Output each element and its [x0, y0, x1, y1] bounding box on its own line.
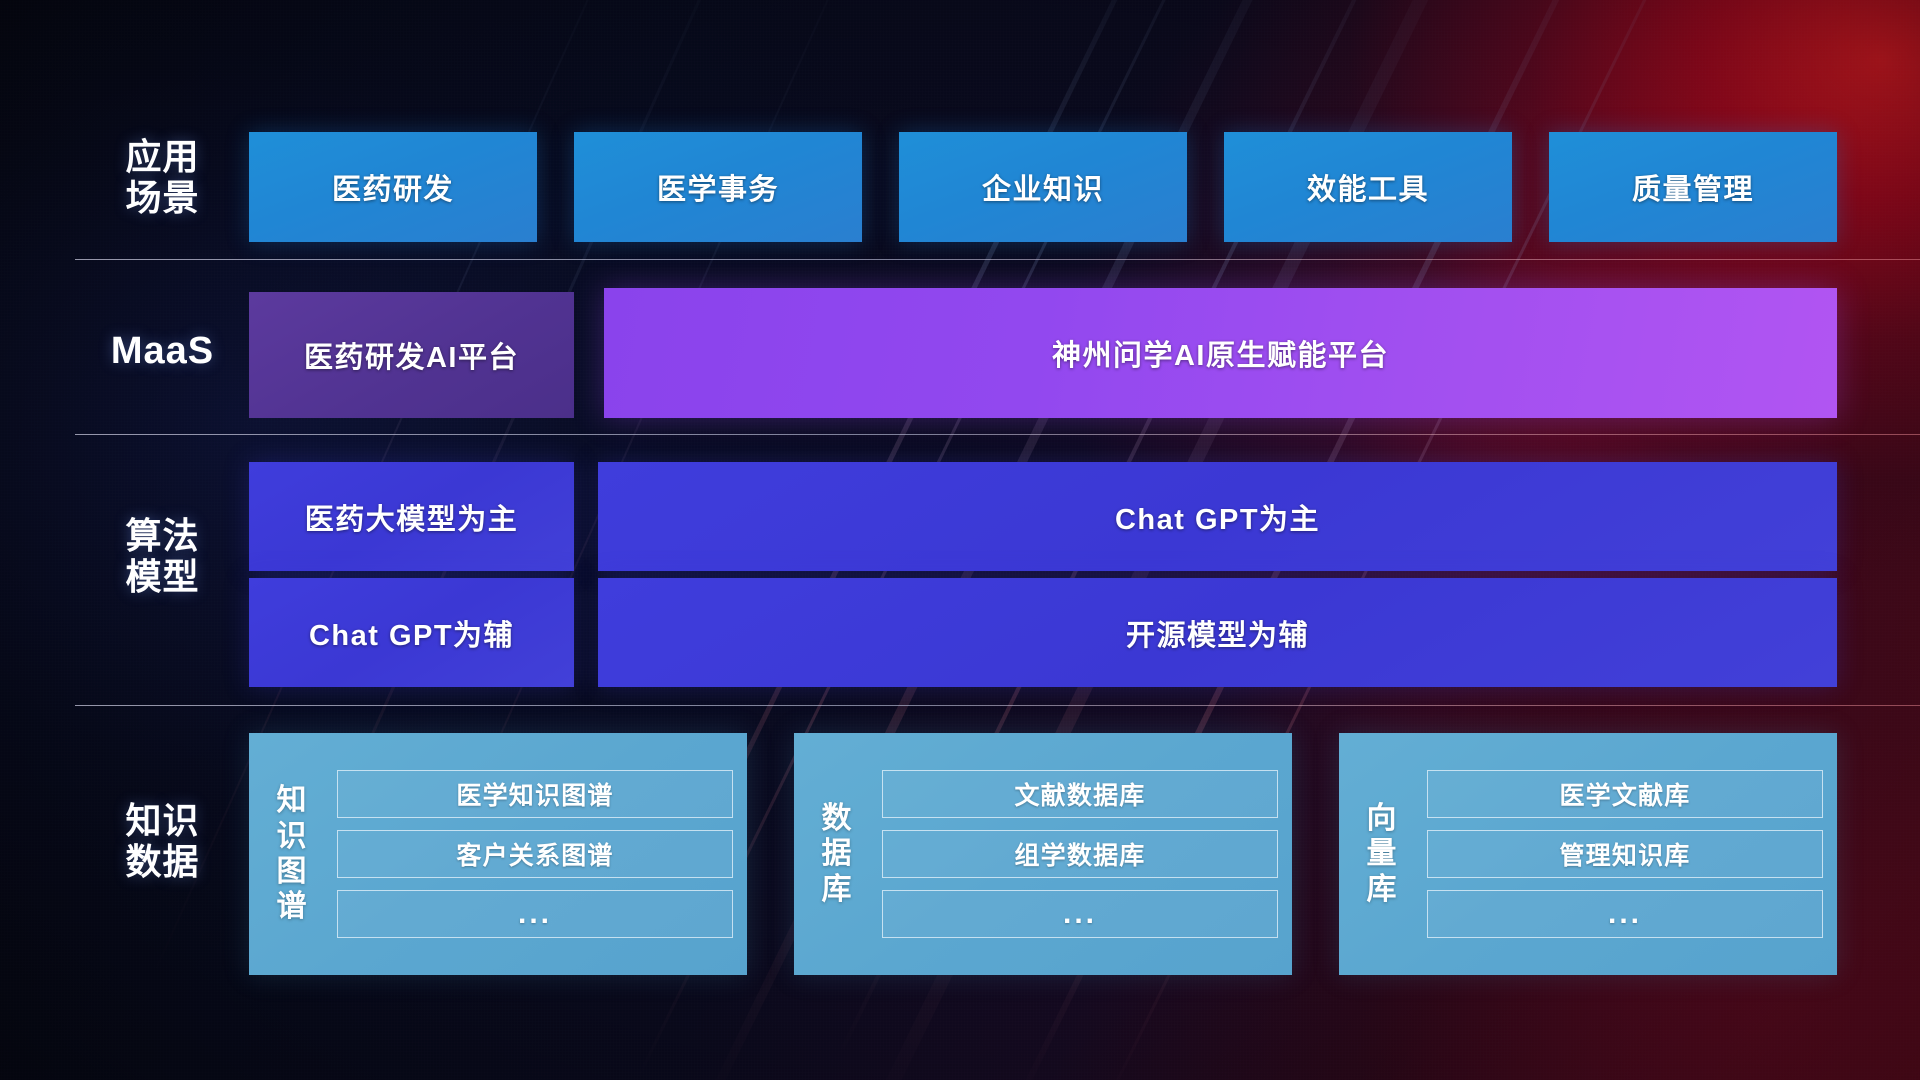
architecture-diagram: 应用 场景 医药研发 医学事务 企业知识 效能工具 质量管理 MaaS 医药研发…: [0, 0, 1920, 1080]
maas-box-label: 医药研发AI平台: [304, 334, 519, 376]
row-label-line-2: 场景: [80, 177, 245, 218]
row-label-maas: MaaS: [80, 330, 245, 373]
vertical-label-char: 库: [1367, 872, 1398, 907]
app-box-label: 医药研发: [332, 166, 454, 208]
vertical-label-char: 据: [822, 836, 853, 871]
row-label-line-2: 模型: [80, 556, 245, 597]
app-box-medical-affairs[interactable]: 医学事务: [574, 132, 862, 242]
knowledge-card-item[interactable]: 医学文献库: [1427, 770, 1823, 818]
divider-3: [75, 705, 1920, 706]
vertical-label-char: 量: [1367, 836, 1398, 871]
vertical-label-char: 数: [822, 801, 853, 836]
algo-box-label: Chat GPT为辅: [309, 612, 514, 654]
row-label-line-2: 数据: [80, 841, 245, 882]
knowledge-card-knowledge-graph[interactable]: 知 识 图 谱 医学知识图谱 客户关系图谱 ...: [249, 733, 747, 975]
row-label-algorithm-models: 算法 模型: [80, 515, 245, 597]
row-label-line-1: 算法: [80, 515, 245, 556]
maas-box-pharma-ai-platform[interactable]: 医药研发AI平台: [249, 292, 574, 418]
row-label-knowledge-data: 知识 数据: [80, 800, 245, 882]
knowledge-card-vertical-label: 知 识 图 谱: [261, 783, 323, 925]
knowledge-card-vertical-label: 数 据 库: [806, 801, 868, 907]
knowledge-card-item[interactable]: 组学数据库: [882, 830, 1278, 878]
knowledge-card-item-more[interactable]: ...: [337, 890, 733, 938]
divider-1: [75, 259, 1920, 260]
row-label-line-1: 应用: [80, 136, 245, 177]
knowledge-card-item[interactable]: 文献数据库: [882, 770, 1278, 818]
vertical-label-char: 向: [1367, 801, 1398, 836]
algo-box-label: 开源模型为辅: [1126, 612, 1309, 654]
app-box-label: 企业知识: [982, 166, 1104, 208]
app-box-label: 质量管理: [1632, 166, 1754, 208]
knowledge-card-item-list: 医学文献库 管理知识库 ...: [1413, 770, 1823, 938]
knowledge-card-item[interactable]: 管理知识库: [1427, 830, 1823, 878]
knowledge-card-vertical-label: 向 量 库: [1351, 801, 1413, 907]
algo-box-label: 医药大模型为主: [305, 496, 519, 538]
algo-box-open-source-secondary[interactable]: 开源模型为辅: [598, 578, 1837, 687]
vertical-label-char: 图: [277, 854, 308, 889]
divider-2: [75, 434, 1920, 435]
algo-box-pharma-llm-primary[interactable]: 医药大模型为主: [249, 462, 574, 571]
knowledge-card-item[interactable]: 客户关系图谱: [337, 830, 733, 878]
knowledge-card-vector-store[interactable]: 向 量 库 医学文献库 管理知识库 ...: [1339, 733, 1837, 975]
algo-box-label: Chat GPT为主: [1115, 496, 1320, 538]
vertical-label-char: 知: [277, 783, 308, 818]
app-box-efficiency-tools[interactable]: 效能工具: [1224, 132, 1512, 242]
algo-box-chatgpt-secondary[interactable]: Chat GPT为辅: [249, 578, 574, 687]
app-box-medicine-rd[interactable]: 医药研发: [249, 132, 537, 242]
app-box-label: 效能工具: [1307, 166, 1429, 208]
vertical-label-char: 谱: [277, 889, 308, 924]
knowledge-card-item[interactable]: 医学知识图谱: [337, 770, 733, 818]
row-label-line-1: 知识: [80, 800, 245, 841]
knowledge-card-database[interactable]: 数 据 库 文献数据库 组学数据库 ...: [794, 733, 1292, 975]
knowledge-card-item-more[interactable]: ...: [882, 890, 1278, 938]
app-box-label: 医学事务: [657, 166, 779, 208]
vertical-label-char: 识: [277, 819, 308, 854]
maas-box-shenzhou-wenxue-platform[interactable]: 神州问学AI原生赋能平台: [604, 288, 1837, 418]
knowledge-card-item-list: 文献数据库 组学数据库 ...: [868, 770, 1278, 938]
vertical-label-char: 库: [822, 872, 853, 907]
row-label-line-1: MaaS: [80, 330, 245, 373]
algo-box-chatgpt-primary[interactable]: Chat GPT为主: [598, 462, 1837, 571]
knowledge-card-item-list: 医学知识图谱 客户关系图谱 ...: [323, 770, 733, 938]
app-box-enterprise-knowledge[interactable]: 企业知识: [899, 132, 1187, 242]
app-box-quality-management[interactable]: 质量管理: [1549, 132, 1837, 242]
row-label-application-scenarios: 应用 场景: [80, 136, 245, 218]
knowledge-card-item-more[interactable]: ...: [1427, 890, 1823, 938]
maas-box-label: 神州问学AI原生赋能平台: [1052, 332, 1389, 374]
